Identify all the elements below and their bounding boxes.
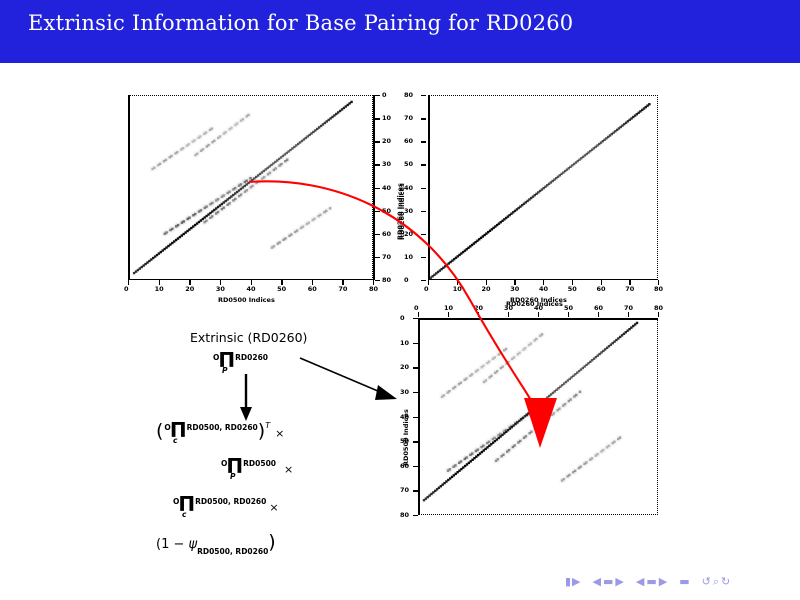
x-tick-label: 20 — [474, 304, 483, 312]
x-axis-title-top-left: RD0500 Indices — [218, 296, 275, 304]
x-axis-title-bottom-right: RD0260 Indices — [506, 300, 563, 308]
y-tick-label: 60 — [404, 137, 413, 145]
nav-forward-icon[interactable]: ↻ — [721, 575, 731, 588]
x-tick-label: 80 — [654, 285, 663, 293]
y-tick-label: 20 — [400, 363, 409, 371]
y-tick — [421, 188, 426, 189]
formula-line-3: OΠPRD0500× — [220, 456, 293, 477]
extrinsic-formula-block: Extrinsic (RD0260) OΠPRD0260 (OΠcRD0500,… — [150, 326, 400, 566]
y-tick-label: 50 — [404, 160, 413, 168]
y-tick — [375, 280, 380, 281]
formula-l1-presup: O — [213, 353, 219, 362]
x-axis-top-right: 01020304050607080 — [428, 280, 658, 294]
nav-slide-icon[interactable]: ▮▶ — [565, 575, 582, 588]
formula-caption: Extrinsic (RD0260) — [190, 330, 307, 345]
y-tick-label: 50 — [382, 207, 391, 215]
x-tick-label: 50 — [277, 285, 286, 293]
formula-l5-open: (1 − — [156, 537, 189, 552]
y-tick — [413, 367, 418, 368]
y-tick — [413, 318, 418, 319]
x-tick-label: 0 — [424, 285, 429, 293]
dotplot-canvas-top-left — [128, 95, 373, 280]
y-tick-label: 40 — [382, 184, 391, 192]
y-tick — [375, 118, 380, 119]
nav-prev-subsection-icon[interactable]: ◀ — [636, 575, 645, 588]
formula-l3-presup: O — [221, 459, 227, 468]
x-tick — [658, 312, 659, 317]
formula-l2-open: ( — [156, 420, 163, 442]
y-tick — [413, 515, 418, 516]
formula-line-2: (OΠcRD0500, RD0260)T× — [156, 420, 284, 442]
formula-l1-postsup: RD0260 — [235, 353, 268, 362]
x-tick-label: 70 — [625, 285, 634, 293]
x-tick-label: 50 — [568, 285, 577, 293]
y-tick — [413, 441, 418, 442]
y-tick — [421, 164, 426, 165]
y-tick-label: 0 — [400, 314, 405, 322]
y-tick-label: 70 — [400, 486, 409, 494]
x-tick-label: 50 — [564, 304, 573, 312]
x-tick-label: 30 — [510, 285, 519, 293]
x-tick-label: 20 — [482, 285, 491, 293]
nav-search-icon[interactable]: ⌕ — [713, 575, 720, 588]
x-tick — [538, 312, 539, 317]
y-tick — [421, 95, 426, 96]
y-tick-label: 70 — [404, 114, 413, 122]
x-tick — [508, 312, 509, 317]
y-tick — [421, 257, 426, 258]
x-tick-label: 80 — [654, 304, 663, 312]
x-tick-label: 0 — [124, 285, 129, 293]
y-axis-top-right: 01020304050607080 — [400, 95, 428, 280]
formula-line-1: OΠPRD0260 — [212, 350, 268, 371]
y-tick-label: 80 — [382, 276, 391, 284]
y-tick — [421, 118, 426, 119]
x-tick — [448, 312, 449, 317]
formula-l2-exponent: T — [265, 421, 270, 430]
y-tick — [375, 141, 380, 142]
y-tick-label: 20 — [382, 137, 391, 145]
x-tick-label: 60 — [594, 304, 603, 312]
x-tick-label: 10 — [453, 285, 462, 293]
page-title: Extrinsic Information for Base Pairing f… — [28, 11, 573, 35]
x-tick-label: 10 — [444, 304, 453, 312]
plot-top-left — [128, 95, 373, 280]
formula-l5-subscript: RD0500, RD0260 — [197, 547, 268, 556]
y-tick — [375, 164, 380, 165]
x-tick — [418, 312, 419, 317]
x-tick-label: 60 — [308, 285, 317, 293]
formula-l4-product: Π — [178, 492, 195, 516]
x-tick — [478, 312, 479, 317]
formula-l1-presub: P — [222, 366, 228, 375]
y-tick-label: 0 — [404, 276, 409, 284]
x-tick-label: 40 — [247, 285, 256, 293]
nav-section-icon[interactable]: ▬ — [679, 575, 690, 588]
y-tick-label: 60 — [382, 230, 391, 238]
nav-prev-frame-icon[interactable]: ◀ — [593, 575, 602, 588]
y-tick — [421, 211, 426, 212]
x-axis-top-left: 01020304050607080 — [128, 280, 373, 294]
y-tick — [375, 211, 380, 212]
y-tick — [421, 141, 426, 142]
x-tick-label: 30 — [216, 285, 225, 293]
y-tick — [375, 95, 380, 96]
y-tick-label: 30 — [404, 207, 413, 215]
nav-frame-icon[interactable]: ▬ — [603, 575, 614, 588]
formula-l3-postsup: RD0500 — [243, 459, 276, 468]
nav-next-frame-icon[interactable]: ▶ — [615, 575, 624, 588]
y-tick-label: 10 — [400, 339, 409, 347]
dotplot-canvas-bottom-right — [418, 318, 658, 515]
y-tick-label: 80 — [404, 91, 413, 99]
formula-l4-presup: O — [173, 497, 179, 506]
y-tick — [413, 490, 418, 491]
y-tick-label: 10 — [382, 114, 391, 122]
y-tick — [413, 343, 418, 344]
formula-l5-symbol: ψ — [189, 537, 198, 552]
y-tick — [413, 417, 418, 418]
y-tick — [413, 466, 418, 467]
formula-l3-presub: P — [230, 472, 236, 481]
y-tick-label: 0 — [382, 91, 387, 99]
y-tick-label: 70 — [382, 253, 391, 261]
nav-next-subsection-icon[interactable]: ▶ — [659, 575, 668, 588]
formula-l3-times: × — [284, 463, 293, 476]
y-tick — [375, 234, 380, 235]
plot-bottom-right — [418, 318, 658, 515]
formula-l2-presup: O — [164, 423, 170, 432]
y-tick — [421, 280, 426, 281]
formula-l2-times: × — [275, 427, 284, 440]
y-tick-label: 20 — [404, 230, 413, 238]
y-tick-label: 80 — [400, 511, 409, 519]
x-tick-label: 60 — [597, 285, 606, 293]
title-rule — [0, 56, 800, 63]
y-tick — [375, 257, 380, 258]
x-tick-label: 20 — [185, 285, 194, 293]
formula-l4-postsup: RD0500, RD0260 — [195, 497, 266, 506]
y-tick-label: 10 — [404, 253, 413, 261]
slide-title-bar: Extrinsic Information for Base Pairing f… — [0, 0, 800, 56]
x-tick-label: 80 — [369, 285, 378, 293]
formula-l2-presub: c — [173, 436, 177, 445]
y-tick-label: 40 — [404, 184, 413, 192]
nav-subsection-icon[interactable]: ▬ — [646, 575, 657, 588]
y-tick-label: 30 — [400, 388, 409, 396]
down-arrow-icon — [236, 374, 256, 424]
x-tick-label: 70 — [338, 285, 347, 293]
y-tick — [375, 188, 380, 189]
formula-line-5: (1 − ψRD0500, RD0260) — [156, 531, 276, 553]
x-tick-label: 10 — [155, 285, 164, 293]
title-gap — [0, 63, 800, 67]
x-tick-label: 70 — [624, 304, 633, 312]
y-axis-title-bottom-right: RD0500 Indices — [402, 409, 410, 466]
beamer-navigation-bar[interactable]: ▮▶◀▬▶◀▬▶▬↺⌕↻ — [565, 575, 732, 589]
x-tick-label: 40 — [539, 285, 548, 293]
plot-top-right — [428, 95, 658, 280]
x-tick — [628, 312, 629, 317]
formula-l5-close: ) — [268, 531, 275, 553]
x-tick — [598, 312, 599, 317]
formula-line-4: OΠcRD0500, RD0260× — [172, 494, 279, 515]
nav-back-icon[interactable]: ↺ — [702, 575, 712, 588]
formula-l2-postsup: RD0500, RD0260 — [187, 423, 258, 432]
x-tick-label: 0 — [414, 304, 419, 312]
dotplot-canvas-top-right — [428, 95, 658, 280]
y-tick-label: 30 — [382, 160, 391, 168]
x-tick — [568, 312, 569, 317]
formula-l4-times: × — [269, 501, 278, 514]
y-axis-title-top-right: RD0260 Indices — [396, 183, 404, 240]
y-tick — [421, 234, 426, 235]
y-tick — [413, 392, 418, 393]
formula-l4-presub: c — [182, 510, 186, 519]
